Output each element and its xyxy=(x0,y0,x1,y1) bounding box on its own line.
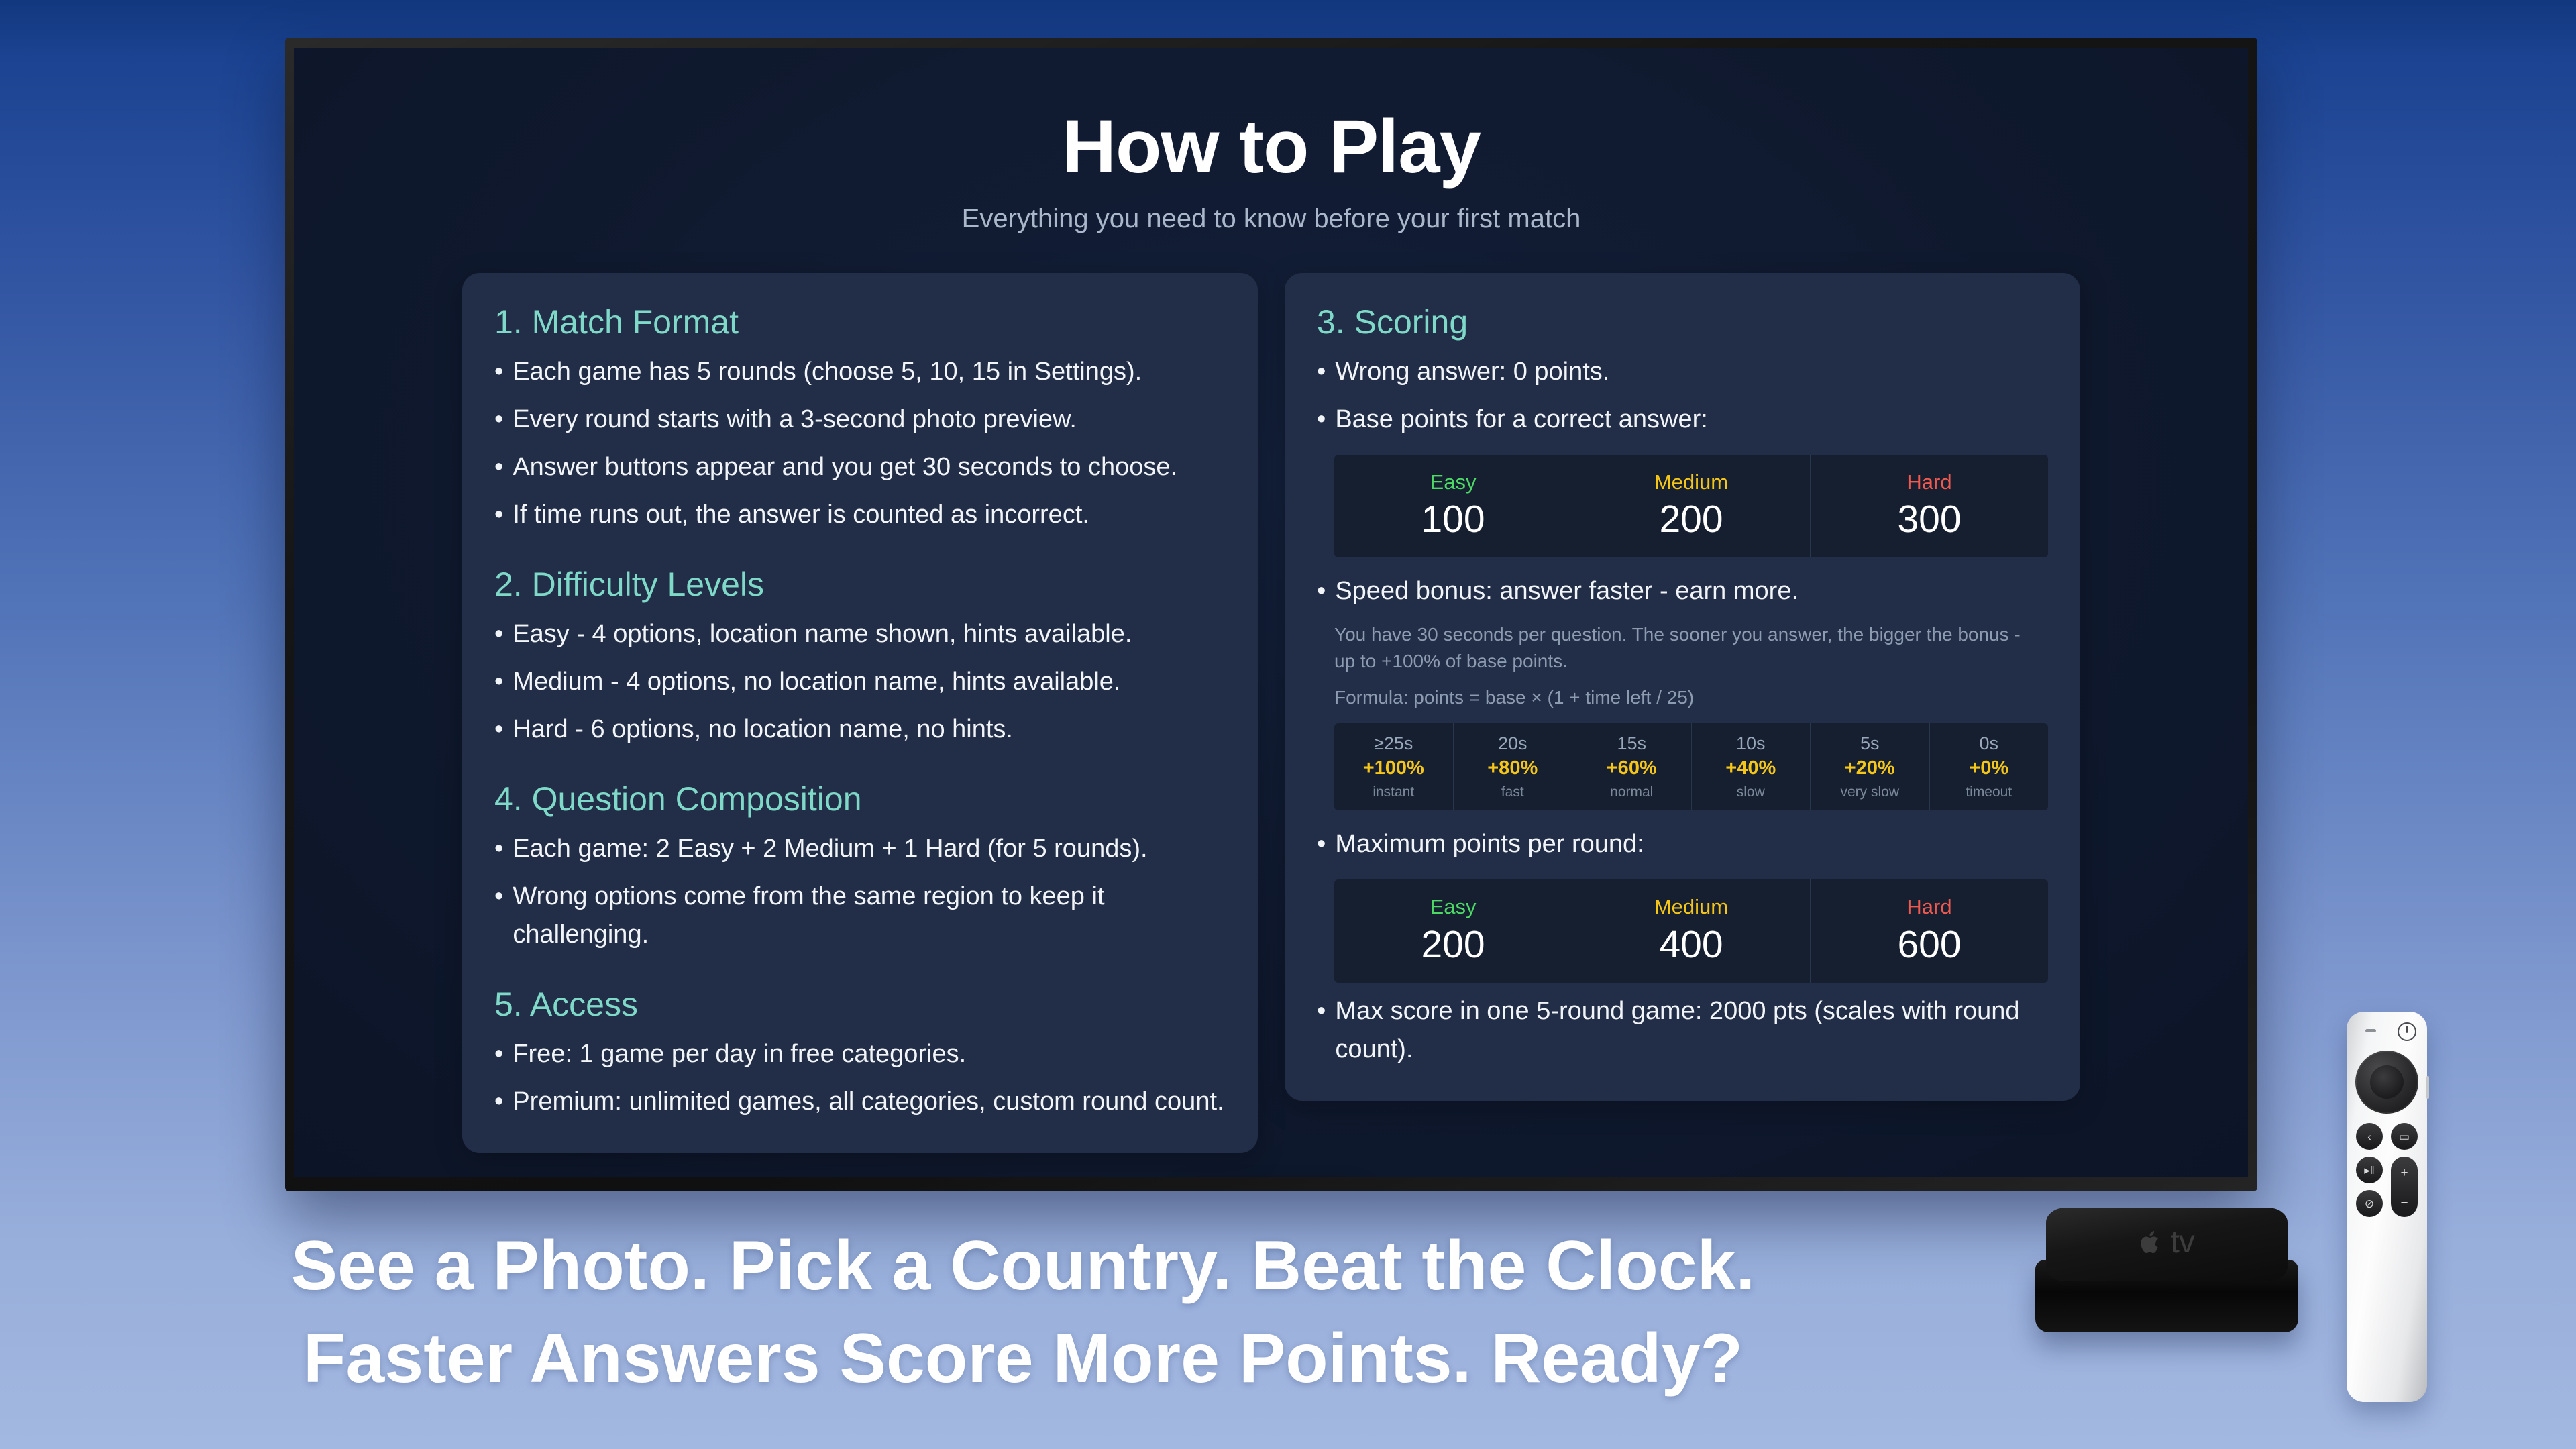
bullet-text: Answer buttons appear and you get 30 sec… xyxy=(513,448,1226,486)
back-icon[interactable]: ‹ xyxy=(2356,1123,2383,1150)
bullet-dot: • xyxy=(494,496,503,534)
difficulty-value: 400 xyxy=(1572,924,1810,966)
table-cell-medium: Medium 200 xyxy=(1572,455,1811,558)
bullet-dot: • xyxy=(494,830,503,868)
table-cell-instant: ≥25s +100% instant xyxy=(1334,723,1454,811)
bullet-text: Medium - 4 options, no location name, hi… xyxy=(513,663,1226,701)
difficulty-value: 200 xyxy=(1572,498,1810,541)
caption-line-1: See a Photo. Pick a Country. Beat the Cl… xyxy=(0,1220,2046,1312)
caption-line-2: Faster Answers Score More Points. Ready? xyxy=(0,1312,2046,1405)
right-scoring-card: 3. Scoring •Wrong answer: 0 points. •Bas… xyxy=(1285,273,2080,1102)
bullet-text: Each game has 5 rounds (choose 5, 10, 15… xyxy=(513,353,1226,391)
section-title: 3. Scoring xyxy=(1317,303,2048,342)
list-item: •Answer buttons appear and you get 30 se… xyxy=(494,448,1226,486)
list-item: •Each game: 2 Easy + 2 Medium + 1 Hard (… xyxy=(494,830,1226,868)
list-item: •Max score in one 5-round game: 2000 pts… xyxy=(1317,992,2048,1069)
speed-time: 10s xyxy=(1692,733,1811,755)
bullet-dot: • xyxy=(1317,572,1326,610)
siri-remote: ‹ ▭ ▸‖ ⊘ + − xyxy=(2347,1012,2427,1402)
bullet-text: Easy - 4 options, location name shown, h… xyxy=(513,615,1226,653)
page-title: How to Play xyxy=(294,107,2248,186)
list-item: •Base points for a correct answer: xyxy=(1317,400,2048,439)
list-item: •Each game has 5 rounds (choose 5, 10, 1… xyxy=(494,353,1226,391)
speed-percent: +40% xyxy=(1692,756,1811,782)
speed-percent: +80% xyxy=(1454,756,1572,782)
speed-time: 20s xyxy=(1454,733,1572,755)
mute-icon[interactable]: ⊘ xyxy=(2356,1190,2383,1217)
bullet-text: Each game: 2 Easy + 2 Medium + 1 Hard (f… xyxy=(513,830,1226,868)
speed-time: 5s xyxy=(1811,733,1929,755)
section-question-composition: 4. Question Composition •Each game: 2 Ea… xyxy=(494,780,1226,954)
bullet-text: If time runs out, the answer is counted … xyxy=(513,496,1226,534)
speed-percent: +20% xyxy=(1811,756,1929,782)
volume-down-icon[interactable]: − xyxy=(2391,1197,2418,1210)
bullet-dot: • xyxy=(1317,825,1326,863)
speed-tag: fast xyxy=(1454,783,1572,801)
section-access: 5. Access •Free: 1 game per day in free … xyxy=(494,985,1226,1121)
bullet-text: Wrong answer: 0 points. xyxy=(1335,353,2048,391)
content-columns: 1. Match Format •Each game has 5 rounds … xyxy=(462,273,2080,1153)
table-cell-easy: Easy 200 xyxy=(1334,879,1572,983)
list-item: •Medium - 4 options, no location name, h… xyxy=(494,663,1226,701)
table-cell-timeout: 0s +0% timeout xyxy=(1930,723,2049,811)
volume-up-icon[interactable]: + xyxy=(2391,1167,2418,1179)
bullet-dot: • xyxy=(494,353,503,391)
bullet-dot: • xyxy=(494,1035,503,1073)
bullet-dot: • xyxy=(494,1083,503,1121)
bullet-text: Maximum points per round: xyxy=(1335,825,2048,863)
bullet-dot: • xyxy=(494,400,503,439)
bullet-text: Hard - 6 options, no location name, no h… xyxy=(513,710,1226,749)
apple-logo-icon xyxy=(2139,1228,2162,1256)
section-match-format: 1. Match Format •Each game has 5 rounds … xyxy=(494,303,1226,534)
section-difficulty-levels: 2. Difficulty Levels •Easy - 4 options, … xyxy=(494,565,1226,749)
tv-screen: How to Play Everything you need to know … xyxy=(294,48,2248,1177)
header: How to Play Everything you need to know … xyxy=(294,48,2248,234)
speed-tag: timeout xyxy=(1930,783,2049,801)
speed-tag: instant xyxy=(1334,783,1453,801)
speed-tag: normal xyxy=(1572,783,1691,801)
speed-time: 0s xyxy=(1930,733,2049,755)
difficulty-label: Hard xyxy=(1811,470,2048,494)
bullet-dot: • xyxy=(494,877,503,954)
bullet-dot: • xyxy=(1317,400,1326,439)
difficulty-value: 100 xyxy=(1334,498,1572,541)
table-cell-hard: Hard 300 xyxy=(1811,455,2048,558)
difficulty-label: Easy xyxy=(1334,470,1572,494)
speed-tag: slow xyxy=(1692,783,1811,801)
table-cell-hard: Hard 600 xyxy=(1811,879,2048,983)
section-title: 1. Match Format xyxy=(494,303,1226,342)
microphone-icon xyxy=(2365,1029,2376,1032)
difficulty-label: Easy xyxy=(1334,894,1572,919)
speed-time: ≥25s xyxy=(1334,733,1453,755)
table-cell-slow: 10s +40% slow xyxy=(1692,723,1811,811)
list-item: •Free: 1 game per day in free categories… xyxy=(494,1035,1226,1073)
bullet-text: Free: 1 game per day in free categories. xyxy=(513,1035,1226,1073)
difficulty-value: 600 xyxy=(1811,924,2048,966)
table-cell-easy: Easy 100 xyxy=(1334,455,1572,558)
left-info-card: 1. Match Format •Each game has 5 rounds … xyxy=(462,273,1258,1153)
list-item: •Premium: unlimited games, all categorie… xyxy=(494,1083,1226,1121)
bullet-dot: • xyxy=(494,710,503,749)
bullet-text: Base points for a correct answer: xyxy=(1335,400,2048,439)
speed-bonus-formula: Formula: points = base × (1 + time left … xyxy=(1334,684,2048,711)
bullet-dot: • xyxy=(494,663,503,701)
list-item: •Every round starts with a 3-second phot… xyxy=(494,400,1226,439)
section-title: 5. Access xyxy=(494,985,1226,1024)
siri-side-button[interactable] xyxy=(2426,1076,2429,1099)
section-title: 2. Difficulty Levels xyxy=(494,565,1226,604)
speed-tag: very slow xyxy=(1811,783,1929,801)
max-points-table: Easy 200 Medium 400 Hard 600 xyxy=(1334,879,2048,983)
apple-tv-wordmark: tv xyxy=(2162,1224,2194,1260)
table-cell-fast: 20s +80% fast xyxy=(1454,723,1573,811)
difficulty-label: Hard xyxy=(1811,894,2048,919)
bullet-dot: • xyxy=(1317,353,1326,391)
list-item: •Wrong options come from the same region… xyxy=(494,877,1226,954)
apple-tv-logo: tv xyxy=(2033,1224,2301,1260)
tv-home-icon[interactable]: ▭ xyxy=(2391,1123,2418,1150)
volume-rocker[interactable]: + − xyxy=(2391,1157,2418,1217)
speed-percent: +100% xyxy=(1334,756,1453,782)
list-item: •Maximum points per round: xyxy=(1317,825,2048,863)
page-subtitle: Everything you need to know before your … xyxy=(294,204,2248,234)
bullet-text: Premium: unlimited games, all categories… xyxy=(513,1083,1226,1121)
bullet-dot: • xyxy=(1317,992,1326,1069)
bullet-dot: • xyxy=(494,615,503,653)
table-cell-medium: Medium 400 xyxy=(1572,879,1811,983)
difficulty-label: Medium xyxy=(1572,470,1810,494)
speed-bonus-table: ≥25s +100% instant 20s +80% fast 15s +60… xyxy=(1334,723,2048,811)
list-item: •Wrong answer: 0 points. xyxy=(1317,353,2048,391)
speed-bonus-note: You have 30 seconds per question. The so… xyxy=(1334,621,2039,675)
table-cell-normal: 15s +60% normal xyxy=(1572,723,1692,811)
speed-percent: +0% xyxy=(1930,756,2049,782)
bullet-dot: • xyxy=(494,448,503,486)
section-title: 4. Question Composition xyxy=(494,780,1226,819)
difficulty-value: 300 xyxy=(1811,498,2048,541)
clickpad[interactable] xyxy=(2355,1051,2418,1114)
list-item: •Easy - 4 options, location name shown, … xyxy=(494,615,1226,653)
section-scoring: 3. Scoring •Wrong answer: 0 points. •Bas… xyxy=(1317,303,2048,1069)
list-item: •Speed bonus: answer faster - earn more. xyxy=(1317,572,2048,610)
power-icon[interactable] xyxy=(2398,1022,2416,1041)
difficulty-label: Medium xyxy=(1572,894,1810,919)
tv-frame: How to Play Everything you need to know … xyxy=(285,38,2257,1191)
play-pause-icon[interactable]: ▸‖ xyxy=(2356,1157,2383,1183)
apple-tv-device: tv xyxy=(2033,1207,2301,1335)
bullet-text: Every round starts with a 3-second photo… xyxy=(513,400,1226,439)
table-cell-very-slow: 5s +20% very slow xyxy=(1811,723,1930,811)
marketing-caption: See a Photo. Pick a Country. Beat the Cl… xyxy=(0,1220,2046,1405)
list-item: •Hard - 6 options, no location name, no … xyxy=(494,710,1226,749)
speed-percent: +60% xyxy=(1572,756,1691,782)
list-item: •If time runs out, the answer is counted… xyxy=(494,496,1226,534)
bullet-text: Max score in one 5-round game: 2000 pts … xyxy=(1335,992,2048,1069)
bullet-text: Speed bonus: answer faster - earn more. xyxy=(1335,572,2048,610)
speed-time: 15s xyxy=(1572,733,1691,755)
difficulty-value: 200 xyxy=(1334,924,1572,966)
base-points-table: Easy 100 Medium 200 Hard 300 xyxy=(1334,455,2048,558)
bullet-text: Wrong options come from the same region … xyxy=(513,877,1226,954)
